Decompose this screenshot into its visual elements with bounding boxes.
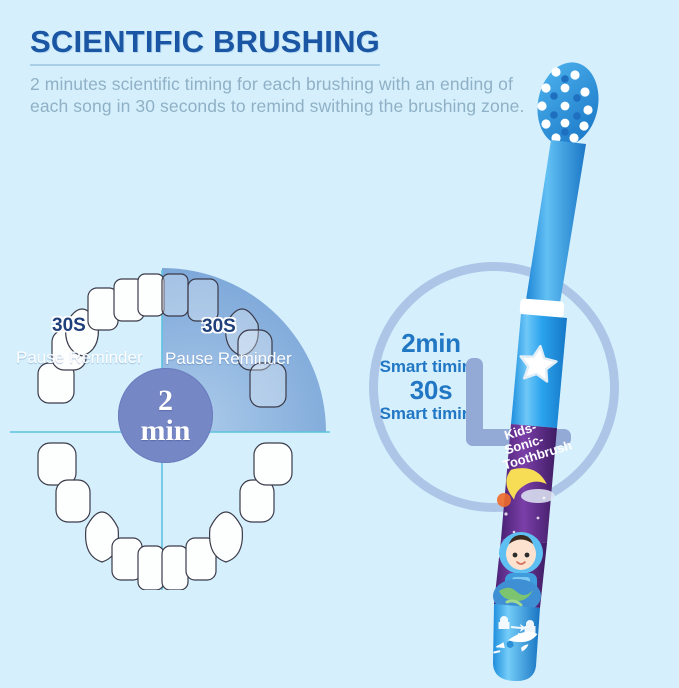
brush-neck xyxy=(526,140,586,303)
center-2min-badge: 2 min xyxy=(118,368,213,463)
badge-minutes-value: 2 xyxy=(158,386,173,415)
toothbrush-illustration: Kids- Sonic- Toothbrush xyxy=(420,48,640,688)
label-30s: 30S xyxy=(202,316,236,338)
label-pause-reminder: Pause Reminder xyxy=(165,349,292,369)
brand-label-text: Kids- Sonic- Toothbrush xyxy=(493,411,574,473)
brush-head xyxy=(531,57,606,151)
lower-left-teeth xyxy=(38,443,164,590)
handle-base xyxy=(493,604,540,681)
page-title: SCIENTIFIC BRUSHING xyxy=(30,26,380,66)
infographic-stage: SCIENTIFIC BRUSHING 2 minutes scientific… xyxy=(0,0,679,679)
lower-right-teeth xyxy=(162,443,292,590)
badge-minutes-unit: min xyxy=(140,416,190,445)
planet-orange xyxy=(497,493,511,507)
